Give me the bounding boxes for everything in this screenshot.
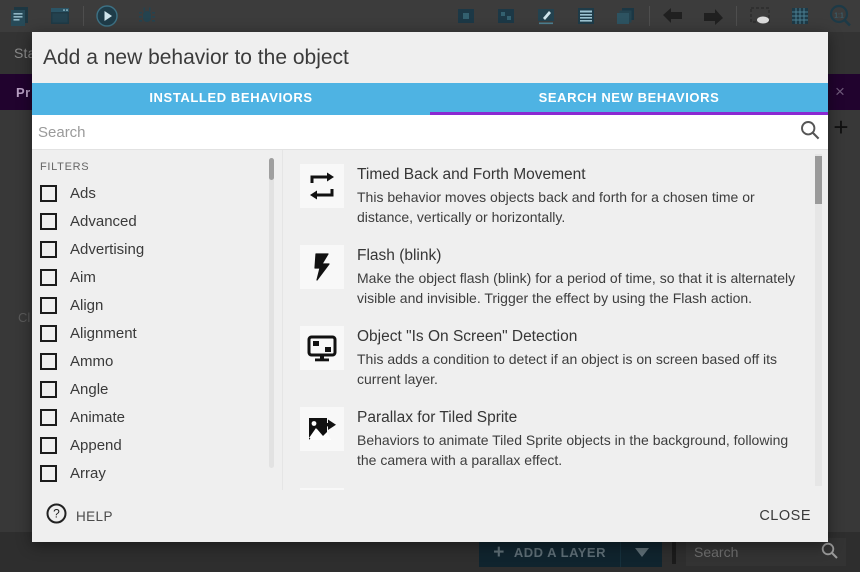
filter-item-align[interactable]: Align: [40, 291, 282, 319]
filter-item-append[interactable]: Append: [40, 431, 282, 459]
filter-label: Animate: [70, 409, 125, 426]
behavior-name: Flash (blink): [357, 246, 800, 267]
behavior-description: This adds a condition to detect if an ob…: [357, 349, 800, 389]
close-button[interactable]: CLOSE: [759, 508, 811, 524]
behavior-search-row: [32, 115, 828, 150]
filter-label: Ammo: [70, 353, 113, 370]
filters-heading: FILTERS: [32, 159, 282, 179]
layer-search-placeholder: Search: [694, 544, 738, 560]
layer-search-field[interactable]: Search: [686, 538, 846, 566]
filters-list: Ads Advanced Advertising Aim: [32, 179, 282, 490]
list-item-text: Object "Is On Screen" Detection This add…: [357, 326, 800, 389]
canvas-label: Cl: [18, 310, 30, 325]
filter-label: Aim: [70, 269, 96, 286]
layers-panel-icon[interactable]: [606, 0, 646, 32]
dialog-body: FILTERS Ads Advanced Advertising: [32, 150, 828, 490]
filter-label: Align: [70, 297, 103, 314]
question-circle-icon: ?: [46, 503, 67, 529]
checkbox-icon[interactable]: [40, 465, 57, 482]
filter-label: Append: [70, 437, 122, 454]
dialog-title: Add a new behavior to the object: [32, 32, 828, 83]
behavior-name: Parallax for Tiled Sprite: [357, 408, 800, 429]
main-toolbar: 1:1: [0, 0, 860, 32]
filters-sidebar: FILTERS Ads Advanced Advertising: [32, 150, 282, 490]
toolbar-divider: [83, 6, 84, 26]
grid-icon[interactable]: [780, 0, 820, 32]
dialog-footer: ? HELP CLOSE: [32, 490, 828, 542]
checkbox-icon[interactable]: [40, 353, 57, 370]
filter-label: Angle: [70, 381, 108, 398]
results-scrollbar[interactable]: [815, 154, 822, 486]
checkbox-icon[interactable]: [40, 297, 57, 314]
checkbox-icon[interactable]: [40, 269, 57, 286]
behavior-results-list: Timed Back and Forth Movement This behav…: [282, 150, 828, 490]
filter-item-ads[interactable]: Ads: [40, 179, 282, 207]
monitor-screen-icon: [300, 326, 344, 370]
tab-installed-behaviors[interactable]: INSTALLED BEHAVIORS: [32, 83, 430, 115]
toolbar-divider-2: [649, 6, 650, 26]
behavior-description: This behavior moves objects back and for…: [357, 187, 800, 227]
list-item[interactable]: Timed Back and Forth Movement This behav…: [283, 156, 828, 237]
filter-item-advanced[interactable]: Advanced: [40, 207, 282, 235]
svg-text:?: ?: [53, 507, 60, 521]
checkbox-icon[interactable]: [40, 381, 57, 398]
list-item[interactable]: Parallax for Tiled Sprite Behaviors to a…: [283, 399, 828, 480]
search-input[interactable]: [38, 124, 800, 141]
behavior-description: Make the object flash (blink) for a peri…: [357, 268, 800, 308]
add-a-layer-label: ADD A LAYER: [514, 545, 606, 560]
tab-search-new-behaviors[interactable]: SEARCH NEW BEHAVIORS: [430, 83, 828, 115]
checkbox-icon[interactable]: [40, 185, 57, 202]
objects-panel-icon[interactable]: [446, 0, 486, 32]
filters-scrollbar-thumb[interactable]: [269, 158, 274, 180]
scene-window-icon[interactable]: [40, 0, 80, 32]
dialog-tab-bar: INSTALLED BEHAVIORS SEARCH NEW BEHAVIORS: [32, 83, 828, 115]
image-arrow-icon: [300, 407, 344, 451]
add-object-plus-icon[interactable]: +: [826, 112, 856, 142]
svg-text:1:1: 1:1: [834, 13, 844, 20]
selection-mask-icon[interactable]: [740, 0, 780, 32]
preview-play-icon[interactable]: [87, 0, 127, 32]
behavior-description: Behaviors to animate Tiled Sprite object…: [357, 430, 800, 470]
filter-label: Array: [70, 465, 106, 482]
checkbox-icon[interactable]: [40, 409, 57, 426]
redo-icon[interactable]: [693, 0, 733, 32]
behavior-name: Timed Back and Forth Movement: [357, 165, 800, 186]
list-item-text: Timed Back and Forth Movement This behav…: [357, 164, 800, 227]
checkbox-icon[interactable]: [40, 325, 57, 342]
list-item[interactable]: Flash (blink) Make the object flash (bli…: [283, 237, 828, 318]
filter-item-alignment[interactable]: Alignment: [40, 319, 282, 347]
help-button[interactable]: ? HELP: [46, 503, 113, 529]
object-groups-icon[interactable]: [486, 0, 526, 32]
list-item-text: Flash (blink) Make the object flash (bli…: [357, 245, 800, 308]
filter-item-animate[interactable]: Animate: [40, 403, 282, 431]
help-label: HELP: [76, 509, 113, 524]
arrow-right-icon: [300, 488, 344, 490]
list-item-text: Swipe Detector: [357, 488, 800, 490]
filter-item-advertising[interactable]: Advertising: [40, 235, 282, 263]
behavior-name: Swipe Detector: [357, 489, 800, 490]
filter-item-array[interactable]: Array: [40, 459, 282, 487]
results-scrollbar-thumb[interactable]: [815, 156, 822, 204]
filter-label: Advanced: [70, 213, 137, 230]
filter-item-aim[interactable]: Aim: [40, 263, 282, 291]
filter-label: Ads: [70, 185, 96, 202]
filter-item-ammo[interactable]: Ammo: [40, 347, 282, 375]
search-icon[interactable]: [821, 542, 838, 562]
properties-list-icon[interactable]: [566, 0, 606, 32]
list-item[interactable]: Object "Is On Screen" Detection This add…: [283, 318, 828, 399]
debug-bug-icon[interactable]: [127, 0, 167, 32]
loop-arrows-icon: [300, 164, 344, 208]
project-manager-icon[interactable]: [0, 0, 40, 32]
add-behavior-dialog: Add a new behavior to the object INSTALL…: [32, 32, 828, 542]
list-item[interactable]: Swipe Detector: [283, 480, 828, 490]
toolbar-divider-3: [736, 6, 737, 26]
list-item-text: Parallax for Tiled Sprite Behaviors to a…: [357, 407, 800, 470]
filter-label: Advertising: [70, 241, 144, 258]
filter-item-angle[interactable]: Angle: [40, 375, 282, 403]
checkbox-icon[interactable]: [40, 213, 57, 230]
lightning-bolt-icon: [300, 245, 344, 289]
undo-icon[interactable]: [653, 0, 693, 32]
filter-label: Alignment: [70, 325, 137, 342]
search-icon[interactable]: [800, 120, 820, 145]
bottom-bar-divider: [672, 540, 676, 564]
edit-scene-icon[interactable]: [526, 0, 566, 32]
filters-scrollbar[interactable]: [269, 158, 274, 468]
zoom-one-to-one-icon[interactable]: 1:1: [820, 0, 860, 32]
checkbox-icon[interactable]: [40, 241, 57, 258]
behavior-name: Object "Is On Screen" Detection: [357, 327, 800, 348]
plus-icon: +: [493, 543, 505, 562]
app-root: 1:1 Sta Pr × + Cl + ADD A LAYER Se: [0, 0, 860, 572]
checkbox-icon[interactable]: [40, 437, 57, 454]
